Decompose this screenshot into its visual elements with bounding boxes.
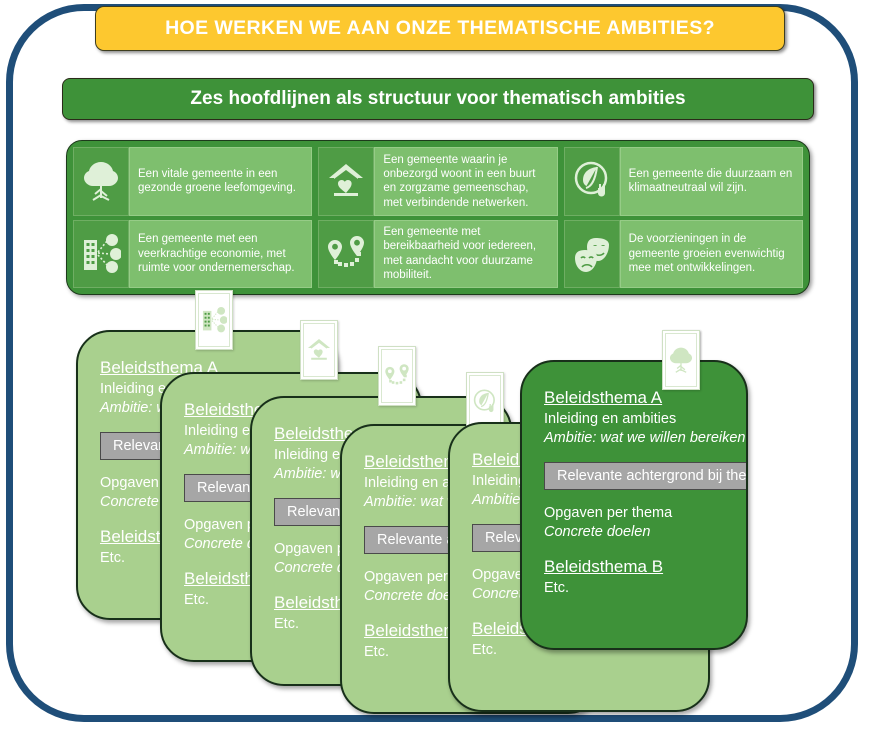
theme-text-2: Een gemeente waarin je onbezorgd woont i… — [383, 153, 548, 211]
building-people-icon — [198, 293, 230, 347]
theme-tile-5: Een gemeente met bereikbaarheid voor ied… — [318, 220, 557, 289]
theme-text-4: Een gemeente met een veerkrachtige econo… — [138, 232, 303, 275]
card-goals: Concrete doelen — [544, 523, 724, 542]
policy-card-6[interactable]: Beleidsthema AInleiding en ambitiesAmbit… — [520, 360, 748, 650]
theme-text-wrap: Een gemeente die duurzaam en klimaatneut… — [620, 147, 803, 216]
card-heading-b: Beleidsthema B — [544, 557, 724, 577]
theme-text-wrap: Een gemeente met bereikbaarheid voor ied… — [374, 220, 557, 289]
card-background-bar-label: Relevante achtergrond bij thema — [557, 468, 748, 484]
theme-tile-2: Een gemeente waarin je onbezorgd woont i… — [318, 147, 557, 216]
subtitle-banner: Zes hoofdlijnen als structuur voor thema… — [62, 78, 814, 120]
theme-text-1: Een vitale gemeente in een gezonde groen… — [138, 167, 303, 196]
theme-text-6: De voorzieningen in de gemeente groeien … — [629, 232, 794, 275]
tree-icon — [665, 333, 697, 387]
theme-text-wrap: Een gemeente met een veerkrachtige econo… — [129, 220, 312, 289]
building-people-icon — [73, 220, 129, 289]
card-heading-a: Beleidsthema A — [544, 388, 724, 408]
card-badge-3 — [378, 346, 416, 406]
title-text: HOE WERKEN WE AAN ONZE THEMATISCHE AMBIT… — [165, 17, 715, 40]
theme-tile-6: De voorzieningen in de gemeente groeien … — [564, 220, 803, 289]
map-pins-route-icon — [318, 220, 374, 289]
card-background-bar[interactable]: Relevante achtergrond bij thema — [544, 462, 748, 490]
card-etc: Etc. — [544, 579, 724, 598]
leaf-plug-icon — [469, 375, 501, 429]
theatre-masks-icon — [564, 220, 620, 289]
card-badge-2 — [300, 320, 338, 380]
theme-text-3: Een gemeente die duurzaam en klimaatneut… — [629, 167, 794, 196]
title-banner: HOE WERKEN WE AAN ONZE THEMATISCHE AMBIT… — [95, 6, 785, 51]
map-pins-route-icon — [381, 349, 413, 403]
tree-icon — [73, 147, 129, 216]
house-heart-icon — [318, 147, 374, 216]
themes-panel: Een vitale gemeente in een gezonde groen… — [66, 140, 810, 295]
theme-text-wrap: De voorzieningen in de gemeente groeien … — [620, 220, 803, 289]
theme-text-wrap: Een vitale gemeente in een gezonde groen… — [129, 147, 312, 216]
card-intro: Inleiding en ambities — [544, 410, 724, 429]
card-badge-6 — [662, 330, 700, 390]
card-badge-1 — [195, 290, 233, 350]
card-tasks: Opgaven per thema — [544, 504, 724, 523]
theme-text-5: Een gemeente met bereikbaarheid voor ied… — [383, 225, 548, 283]
leaf-plug-icon — [564, 147, 620, 216]
theme-tile-3: Een gemeente die duurzaam en klimaatneut… — [564, 147, 803, 216]
subtitle-text: Zes hoofdlijnen als structuur voor thema… — [190, 88, 685, 110]
theme-tile-1: Een vitale gemeente in een gezonde groen… — [73, 147, 312, 216]
theme-text-wrap: Een gemeente waarin je onbezorgd woont i… — [374, 147, 557, 216]
house-heart-icon — [303, 323, 335, 377]
card-ambition: Ambitie: wat we willen bereiken — [544, 429, 724, 448]
theme-tile-4: Een gemeente met een veerkrachtige econo… — [73, 220, 312, 289]
